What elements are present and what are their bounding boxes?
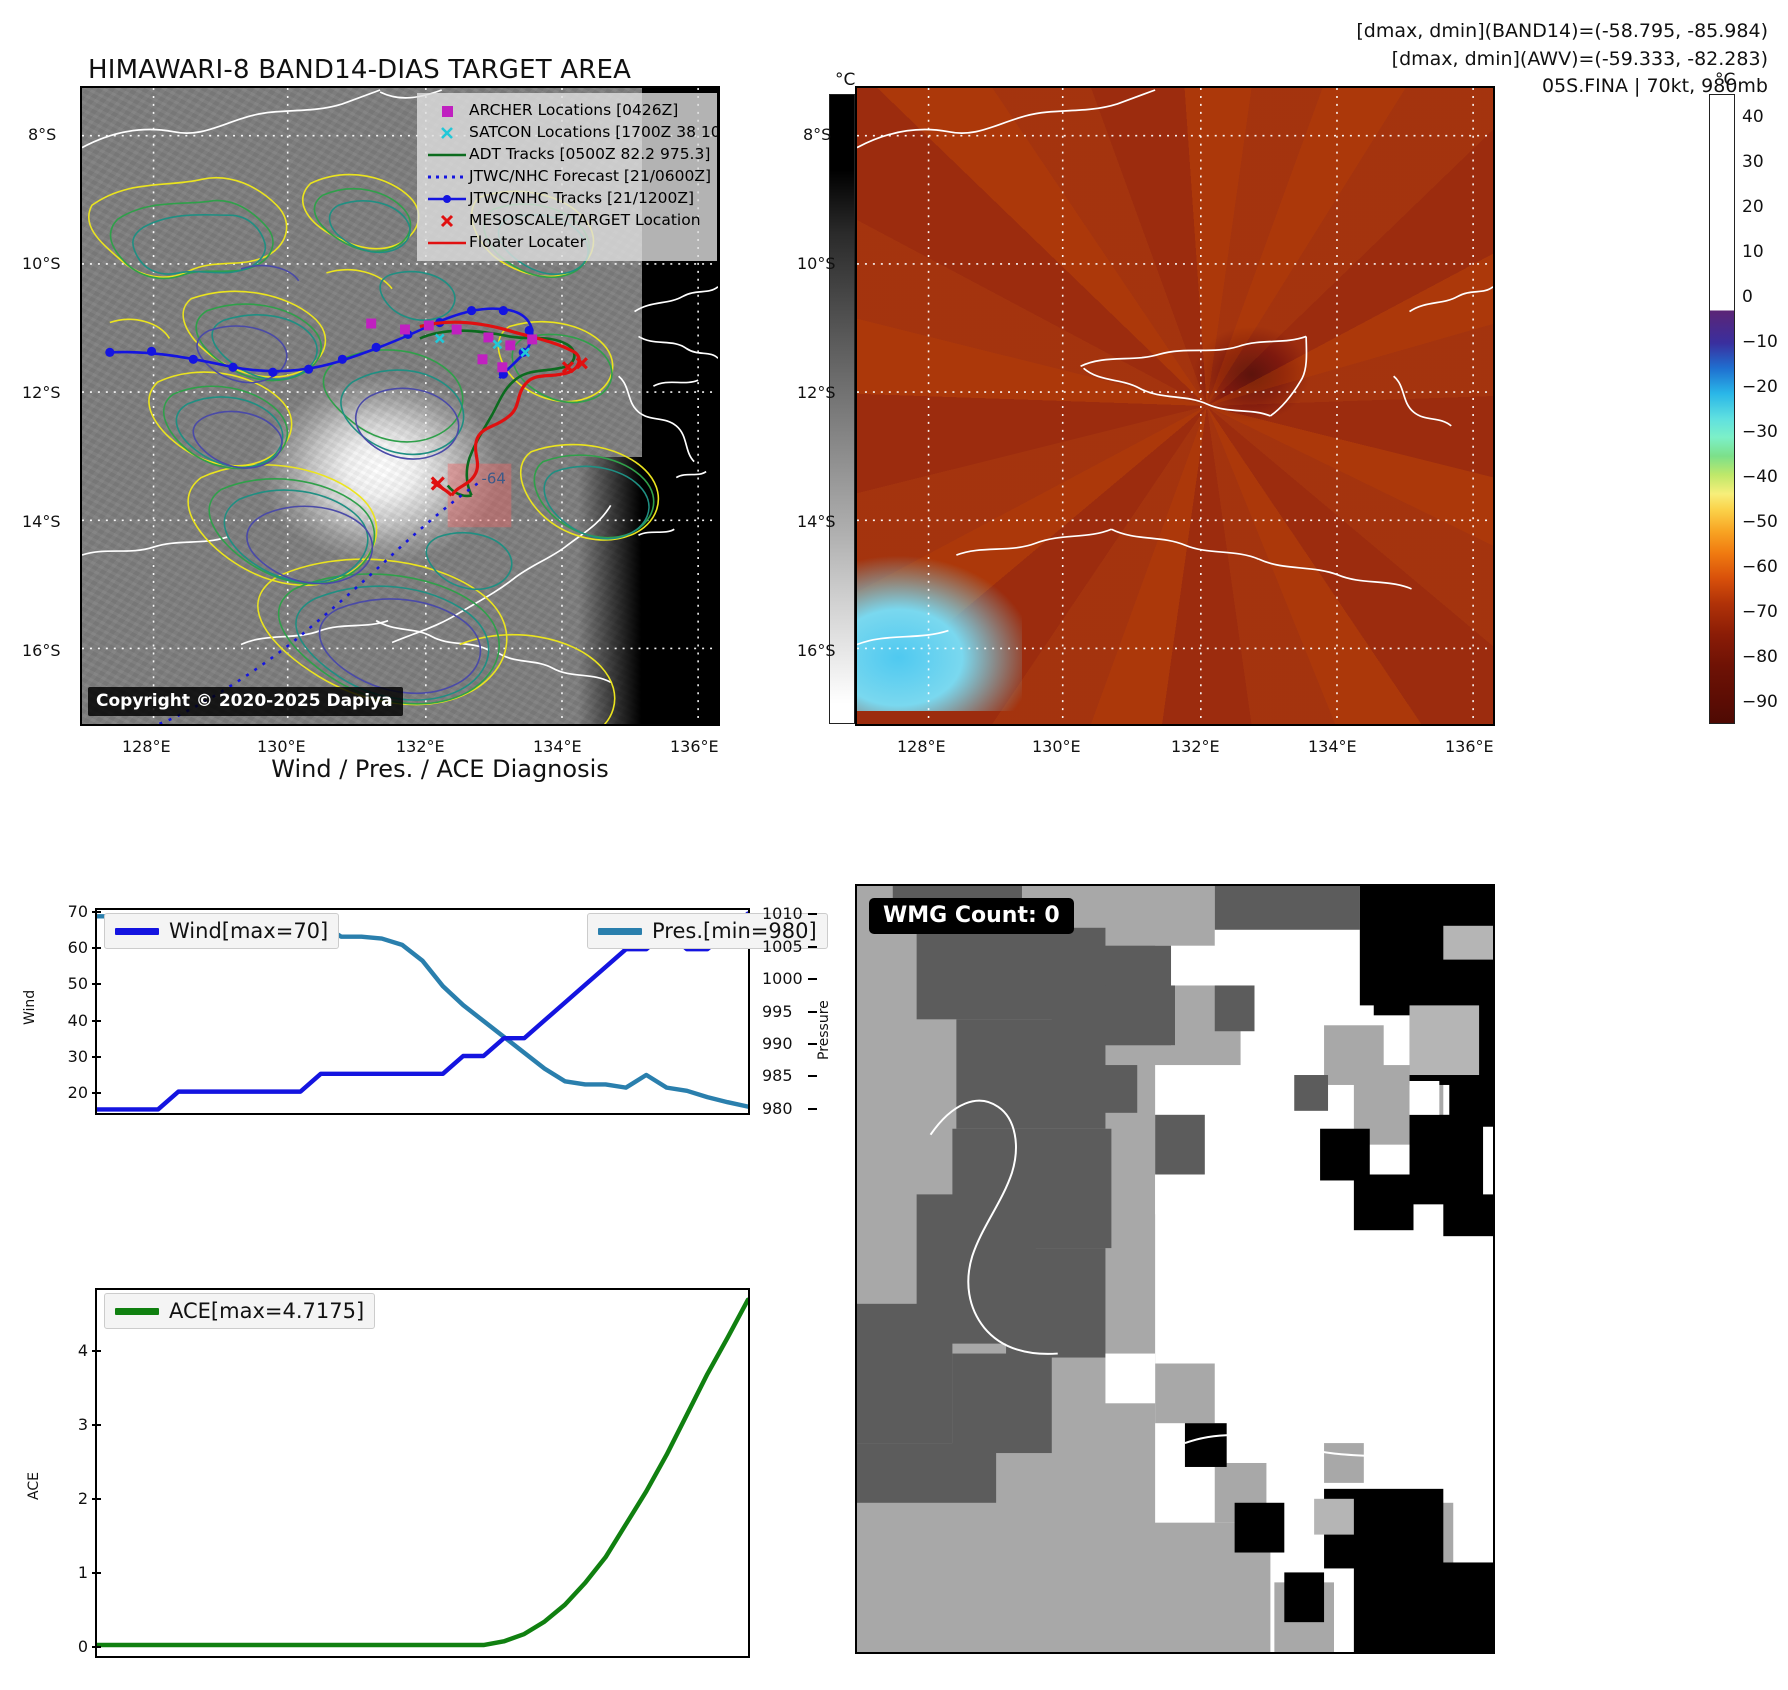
colorbar-tick-label: 40 <box>1742 107 1764 127</box>
axis-tick-mark <box>92 1646 101 1648</box>
legend-item-jtwc-forecast[interactable]: JTWC/NHC Forecast [21/0600Z] <box>425 166 709 188</box>
colorbar-tick-label: 30 <box>1742 152 1764 172</box>
colorbar-tick-label: −70 <box>1742 602 1778 622</box>
axis-tick-label: 1000 <box>762 969 803 988</box>
axis-tick-mark <box>808 1043 817 1045</box>
awv-lon-label-136e: 136°E <box>1445 737 1494 756</box>
awv-coastlines <box>857 90 1493 645</box>
adt-line-icon <box>425 149 469 161</box>
awv-lon-label-130e: 130°E <box>1032 737 1081 756</box>
legend-item-floater[interactable]: Floater Locater <box>425 232 709 254</box>
pressure-line-icon <box>598 928 642 935</box>
colorbar-tick-label: 10 <box>1742 242 1764 262</box>
ace-series <box>97 1290 748 1656</box>
axis-tick-mark <box>808 1011 817 1013</box>
axis-tick-label: 70 <box>40 902 88 921</box>
axis-tick-mark <box>808 1108 817 1110</box>
map-legend[interactable]: ARCHER Locations [0426Z] SATCON Location… <box>417 93 717 261</box>
ir-satellite-map[interactable]: -64 ARCHER Locations [0426Z] SATCON Loca… <box>80 86 720 726</box>
archer-square-icon <box>425 103 469 119</box>
ir-lon-label-130e: 130°E <box>257 737 306 756</box>
jtwc-track <box>105 306 534 379</box>
wind-legend-label: Wind[max=70] <box>169 919 328 943</box>
ir-lon-label-128e: 128°E <box>122 737 171 756</box>
legend-item-jtwc-tracks[interactable]: JTWC/NHC Tracks [21/1200Z] <box>425 188 709 210</box>
axis-tick-label: 3 <box>40 1415 88 1434</box>
ir-lat-label-14s: 14°S <box>22 512 61 531</box>
awv-overlay <box>857 88 1493 724</box>
axis-tick-label: 980 <box>762 1099 793 1118</box>
axis-tick-mark <box>808 1075 817 1077</box>
diagnosis-chart-title: Wind / Pres. / ACE Diagnosis <box>80 755 800 783</box>
ace-legend[interactable]: ACE[max=4.7175] <box>104 1293 375 1329</box>
colorbar-tick-label: −30 <box>1742 422 1778 442</box>
awv-lat-label-14s: 14°S <box>797 512 836 531</box>
awv-lon-label-132e: 132°E <box>1171 737 1220 756</box>
ace-plot[interactable] <box>95 1288 750 1658</box>
ir-lon-label-136e: 136°E <box>670 737 719 756</box>
axis-tick-label: 985 <box>762 1066 793 1085</box>
awv-lat-label-16s: 16°S <box>797 641 836 660</box>
wind-line-icon <box>115 928 159 935</box>
axis-tick-label: 1005 <box>762 937 803 956</box>
colorbar-tick-label: −60 <box>1742 557 1778 577</box>
floater-line-icon <box>425 237 469 249</box>
colorbar-tick-label: −50 <box>1742 512 1778 532</box>
colorbar-tick-label: −20 <box>1742 377 1778 397</box>
stats-band14: [dmax, dmin](BAND14)=(-58.795, -85.984) <box>1356 18 1768 46</box>
axis-tick-mark <box>92 1092 101 1094</box>
axis-tick-label: 2 <box>40 1489 88 1508</box>
axis-tick-label: 990 <box>762 1034 793 1053</box>
axis-tick-label: 1 <box>40 1563 88 1582</box>
ir-lat-label-8s: 8°S <box>28 125 56 144</box>
axis-tick-label: 4 <box>40 1341 88 1360</box>
awv-lon-label-134e: 134°E <box>1308 737 1357 756</box>
axis-tick-mark <box>92 1350 101 1352</box>
ace-line-icon <box>115 1308 159 1315</box>
axis-tick-mark <box>92 1056 101 1058</box>
colorbar-tick-label: 20 <box>1742 197 1764 217</box>
legend-item-satcon[interactable]: SATCON Locations [1700Z 38 1000] <box>425 122 709 144</box>
awv-lat-label-12s: 12°S <box>797 383 836 402</box>
legend-item-mesoscale[interactable]: MESOSCALE/TARGET Location <box>425 210 709 232</box>
axis-tick-mark <box>808 946 817 948</box>
stats-awv: [dmax, dmin](AWV)=(-59.333, -82.283) <box>1356 46 1768 74</box>
awv-lat-label-10s: 10°S <box>797 254 836 273</box>
axis-tick-mark <box>92 947 101 949</box>
legend-item-adt[interactable]: ADT Tracks [0500Z 82.2 975.3] <box>425 144 709 166</box>
wmg-count-badge: WMG Count: 0 <box>869 898 1074 934</box>
ir-lat-label-10s: 10°S <box>22 254 61 273</box>
ir-lat-label-12s: 12°S <box>22 383 61 402</box>
axis-tick-label: 1010 <box>762 904 803 923</box>
wind-legend[interactable]: Wind[max=70] <box>104 913 339 949</box>
axis-tick-mark <box>92 1498 101 1500</box>
wmg-map[interactable]: WMG Count: 0 <box>855 884 1495 1654</box>
ace-legend-label: ACE[max=4.7175] <box>169 1299 364 1323</box>
legend-item-archer[interactable]: ARCHER Locations [0426Z] <box>425 100 709 122</box>
ir-lon-label-132e: 132°E <box>396 737 445 756</box>
colorbar-tick-label: −10 <box>1742 332 1778 352</box>
ir-colorbar-gradient <box>829 94 855 724</box>
axis-tick-label: 0 <box>40 1637 88 1656</box>
colorbar-tick-label: 0 <box>1742 287 1753 307</box>
axis-tick-label: 20 <box>40 1083 88 1102</box>
axis-tick-mark <box>92 1424 101 1426</box>
mesoscale-x-icon <box>425 213 469 229</box>
axis-tick-mark <box>92 983 101 985</box>
axis-tick-mark <box>92 911 101 913</box>
awv-colorbar-gradient <box>1709 94 1735 724</box>
contour-value-label: -64 <box>481 470 505 488</box>
awv-lon-label-128e: 128°E <box>897 737 946 756</box>
ir-colorbar-unit: °C <box>835 70 855 90</box>
wind-axis-name: Wind <box>22 990 38 1025</box>
awv-gridlines <box>857 88 1493 724</box>
page-title-line1: HIMAWARI-8 BAND14-DIAS TARGET AREA <box>88 53 631 88</box>
awv-colorbar-unit: °C <box>1715 70 1735 90</box>
awv-satellite-map[interactable] <box>855 86 1495 726</box>
colorbar-tick-label: −40 <box>1742 467 1778 487</box>
axis-tick-label: 60 <box>40 938 88 957</box>
axis-tick-label: 995 <box>762 1002 793 1021</box>
track-line-dot-icon <box>425 193 469 205</box>
colorbar-tick-label: −80 <box>1742 647 1778 667</box>
axis-tick-mark <box>92 1572 101 1574</box>
wmg-cells <box>857 886 1493 1652</box>
axis-tick-mark <box>808 978 817 980</box>
axis-tick-label: 50 <box>40 974 88 993</box>
forecast-dotted-line-icon <box>425 171 469 183</box>
awv-lat-label-8s: 8°S <box>803 125 831 144</box>
ir-lon-label-134e: 134°E <box>533 737 582 756</box>
axis-tick-label: 40 <box>40 1011 88 1030</box>
axis-tick-mark <box>92 1020 101 1022</box>
satcon-x-icon <box>425 125 469 141</box>
pressure-axis-name: Pressure <box>816 1000 832 1060</box>
ir-lat-label-16s: 16°S <box>22 641 61 660</box>
colorbar-tick-label: −90 <box>1742 692 1778 712</box>
axis-tick-mark <box>808 913 817 915</box>
copyright-notice: Copyright © 2020-2025 Dapiya <box>88 687 403 716</box>
axis-tick-label: 30 <box>40 1047 88 1066</box>
awv-colorbar: °C 403020100−10−20−30−40−50−60−70−80−90 <box>1700 70 1788 730</box>
